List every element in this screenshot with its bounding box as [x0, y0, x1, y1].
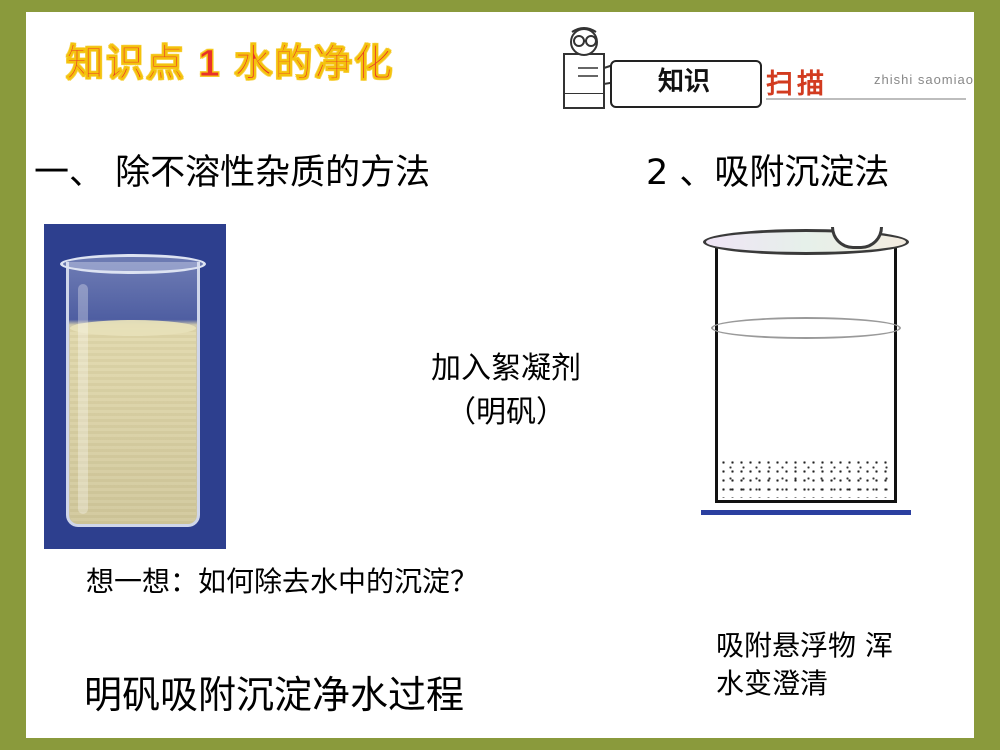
right-caption-line1: 吸附悬浮物 浑 [716, 627, 986, 665]
heading-right: 2 、吸附沉淀法 [646, 144, 889, 195]
center-note-line2: （明矾） [386, 391, 626, 435]
sediment-particles [719, 458, 893, 498]
badge-pinyin-label: zhishi saomiao [874, 72, 974, 87]
base-line [701, 510, 911, 515]
right-caption-line2: 水变澄清 [716, 665, 986, 703]
turbid-water-shape [70, 328, 196, 524]
slide-canvas: 知识点 1 水的净化 知识 扫描 zhishi saomiao 一、 除不溶性杂… [26, 12, 974, 738]
beaker-right-wall [894, 241, 897, 503]
center-note-line1: 加入絮凝剂 [386, 347, 626, 391]
beaker-bottom [715, 500, 897, 503]
right-caption: 吸附悬浮物 浑 水变澄清 [716, 627, 986, 703]
page-title: 知识点 1 水的净化 [66, 32, 394, 87]
beaker-rim-shape [60, 254, 206, 274]
water-surface-shape [70, 320, 196, 336]
badge-underline [766, 98, 966, 100]
glass-highlight-shape [78, 284, 88, 514]
bottom-left-caption: 明矾吸附沉淀净水过程 [84, 664, 464, 719]
beaker-left-wall [715, 241, 718, 503]
beaker-diagram [681, 217, 931, 527]
heading-left: 一、 除不溶性杂质的方法 [34, 144, 430, 195]
beaker-photo [44, 224, 226, 549]
zhishi-saomiao-badge: 知识 扫描 zhishi saomiao [544, 12, 974, 124]
teacher-icon [558, 24, 618, 110]
think-caption: 想一想：如何除去水中的沉淀？ [86, 560, 478, 600]
center-note: 加入絮凝剂 （明矾） [386, 347, 626, 435]
badge-scan-label: 扫描 [766, 62, 828, 101]
badge-box-label: 知识 [616, 64, 752, 100]
water-level-ellipse [711, 317, 901, 339]
